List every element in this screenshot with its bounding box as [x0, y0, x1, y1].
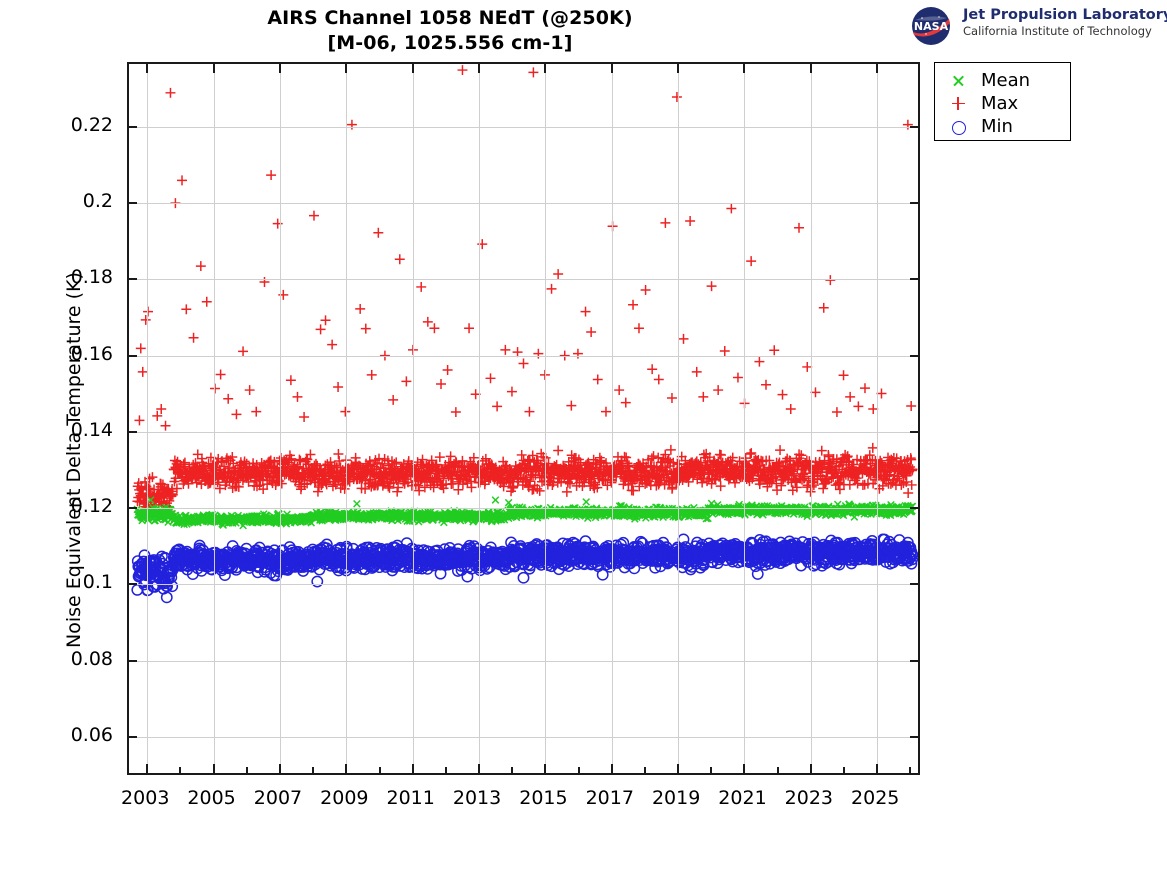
y-axis-tick	[129, 202, 137, 204]
plot-area	[127, 62, 920, 775]
x-axis-minor-tick	[644, 767, 646, 773]
y-axis-tick-label: 0.16	[71, 343, 113, 365]
x-axis-tick-top	[810, 64, 812, 73]
legend-item-min[interactable]: Min	[935, 115, 1070, 138]
series-min	[132, 534, 917, 602]
series-mean	[134, 497, 916, 529]
x-axis-tick-top	[345, 64, 347, 73]
y-axis-tick-label: 0.18	[71, 266, 113, 288]
gridline-horizontal	[129, 661, 918, 662]
caltech-name: California Institute of Technology	[963, 24, 1167, 39]
gridline-vertical	[612, 64, 613, 773]
scatter-data-canvas	[129, 64, 918, 773]
gridline-vertical	[413, 64, 414, 773]
y-axis-tick-right	[910, 126, 918, 128]
legend: MeanMaxMin	[934, 62, 1071, 141]
x-axis-minor-tick	[909, 767, 911, 773]
gridline-vertical	[877, 64, 878, 773]
legend-label: Mean	[981, 69, 1030, 92]
y-axis-tick	[129, 278, 137, 280]
gridline-horizontal	[129, 508, 918, 509]
gridline-vertical	[214, 64, 215, 773]
x-axis-tick-top	[213, 64, 215, 73]
y-axis-tick-right	[910, 431, 918, 433]
gridline-horizontal	[129, 584, 918, 585]
x-axis-tick-top	[544, 64, 546, 73]
x-axis-tick-label: 2023	[785, 787, 833, 809]
y-axis-tick-right	[910, 355, 918, 357]
y-axis-tick	[129, 660, 137, 662]
y-axis-tick-right	[910, 736, 918, 738]
x-axis-tick	[412, 764, 414, 773]
gridline-horizontal	[129, 356, 918, 357]
y-axis-tick	[129, 507, 137, 509]
plus-marker-icon	[935, 92, 981, 115]
legend-glyph	[952, 121, 966, 135]
y-axis-tick-label: 0.2	[83, 190, 113, 212]
y-axis-tick-label: 0.14	[71, 419, 113, 441]
x-axis-tick-label: 2013	[453, 787, 501, 809]
x-axis-tick	[544, 764, 546, 773]
gridline-vertical	[280, 64, 281, 773]
x-axis-tick-top	[478, 64, 480, 73]
gridline-vertical	[678, 64, 679, 773]
page-title: AIRS Channel 1058 NEdT (@250K) [M-06, 10…	[0, 6, 900, 56]
x-axis-tick	[279, 764, 281, 773]
logo-text-block: Jet Propulsion Laboratory California Ins…	[963, 6, 1167, 39]
gridline-horizontal	[129, 203, 918, 204]
x-axis-tick-top	[876, 64, 878, 73]
y-axis-tick-right	[910, 583, 918, 585]
x-axis-tick	[345, 764, 347, 773]
x-axis-tick-label: 2007	[254, 787, 302, 809]
x-axis-tick-label: 2009	[320, 787, 368, 809]
x-axis-tick-label: 2017	[586, 787, 634, 809]
gridline-vertical	[545, 64, 546, 773]
gridline-vertical	[147, 64, 148, 773]
x-axis-minor-tick	[445, 767, 447, 773]
gridline-vertical	[346, 64, 347, 773]
y-axis-tick-label: 0.12	[71, 495, 113, 517]
x-axis-minor-tick	[379, 767, 381, 773]
x-axis-tick-label: 2011	[387, 787, 435, 809]
x-axis-tick-label: 2021	[718, 787, 766, 809]
series-max	[132, 65, 917, 519]
y-axis-tick	[129, 736, 137, 738]
x-axis-tick	[810, 764, 812, 773]
title-line-2: [M-06, 1025.556 cm-1]	[0, 31, 900, 56]
gridline-horizontal	[129, 737, 918, 738]
legend-item-max[interactable]: Max	[935, 92, 1070, 115]
x-axis-tick-label: 2025	[851, 787, 899, 809]
y-axis-tick-label: 0.22	[71, 114, 113, 136]
x-axis-minor-tick	[710, 767, 712, 773]
gridline-horizontal	[129, 127, 918, 128]
legend-label: Min	[981, 115, 1013, 138]
gridline-vertical	[744, 64, 745, 773]
y-axis-tick-right	[910, 660, 918, 662]
x-axis-tick-top	[743, 64, 745, 73]
x-axis-tick	[743, 764, 745, 773]
x-axis-tick-top	[412, 64, 414, 73]
y-axis-tick	[129, 355, 137, 357]
legend-item-mean[interactable]: Mean	[935, 69, 1070, 92]
x-axis-minor-tick	[511, 767, 513, 773]
x-axis-tick	[146, 764, 148, 773]
x-axis-minor-tick	[246, 767, 248, 773]
x-axis-tick	[213, 764, 215, 773]
x-axis-tick-label: 2003	[121, 787, 169, 809]
x-axis-minor-tick	[179, 767, 181, 773]
circle-marker-icon	[935, 115, 981, 138]
gridline-horizontal	[129, 432, 918, 433]
x-axis-tick-top	[279, 64, 281, 73]
x-axis-tick	[876, 764, 878, 773]
y-axis-tick	[129, 126, 137, 128]
legend-label: Max	[981, 92, 1018, 115]
nasa-jpl-logo: NASA Jet Propulsion Laboratory Californi…	[906, 5, 1156, 47]
x-axis-tick	[478, 764, 480, 773]
gridline-vertical	[479, 64, 480, 773]
chart-page: AIRS Channel 1058 NEdT (@250K) [M-06, 10…	[0, 0, 1167, 875]
nasa-meatball-icon: NASA	[906, 5, 958, 47]
y-axis-tick-right	[910, 202, 918, 204]
x-axis-tick-label: 2019	[652, 787, 700, 809]
y-axis-tick-right	[910, 278, 918, 280]
x-axis-tick-top	[146, 64, 148, 73]
gridline-horizontal	[129, 279, 918, 280]
x-axis-tick-top	[611, 64, 613, 73]
title-line-1: AIRS Channel 1058 NEdT (@250K)	[0, 6, 900, 31]
y-axis-tick	[129, 583, 137, 585]
x-axis-minor-tick	[777, 767, 779, 773]
x-axis-tick-label: 2015	[519, 787, 567, 809]
gridline-vertical	[811, 64, 812, 773]
x-axis-minor-tick	[578, 767, 580, 773]
y-axis-tick-label: 0.06	[71, 724, 113, 746]
y-axis-tick-label: 0.1	[83, 571, 113, 593]
cross-marker-icon	[935, 69, 981, 92]
y-axis-tick	[129, 431, 137, 433]
x-axis-minor-tick	[843, 767, 845, 773]
x-axis-tick-top	[677, 64, 679, 73]
x-axis-tick-label: 2005	[187, 787, 235, 809]
x-axis-tick	[611, 764, 613, 773]
jpl-name: Jet Propulsion Laboratory	[963, 6, 1167, 24]
x-axis-tick	[677, 764, 679, 773]
x-axis-minor-tick	[312, 767, 314, 773]
y-axis-tick-right	[910, 507, 918, 509]
y-axis-tick-labels: 0.060.080.10.120.140.160.180.20.22	[0, 0, 113, 875]
y-axis-tick-label: 0.08	[71, 648, 113, 670]
svg-text:NASA: NASA	[914, 20, 949, 33]
